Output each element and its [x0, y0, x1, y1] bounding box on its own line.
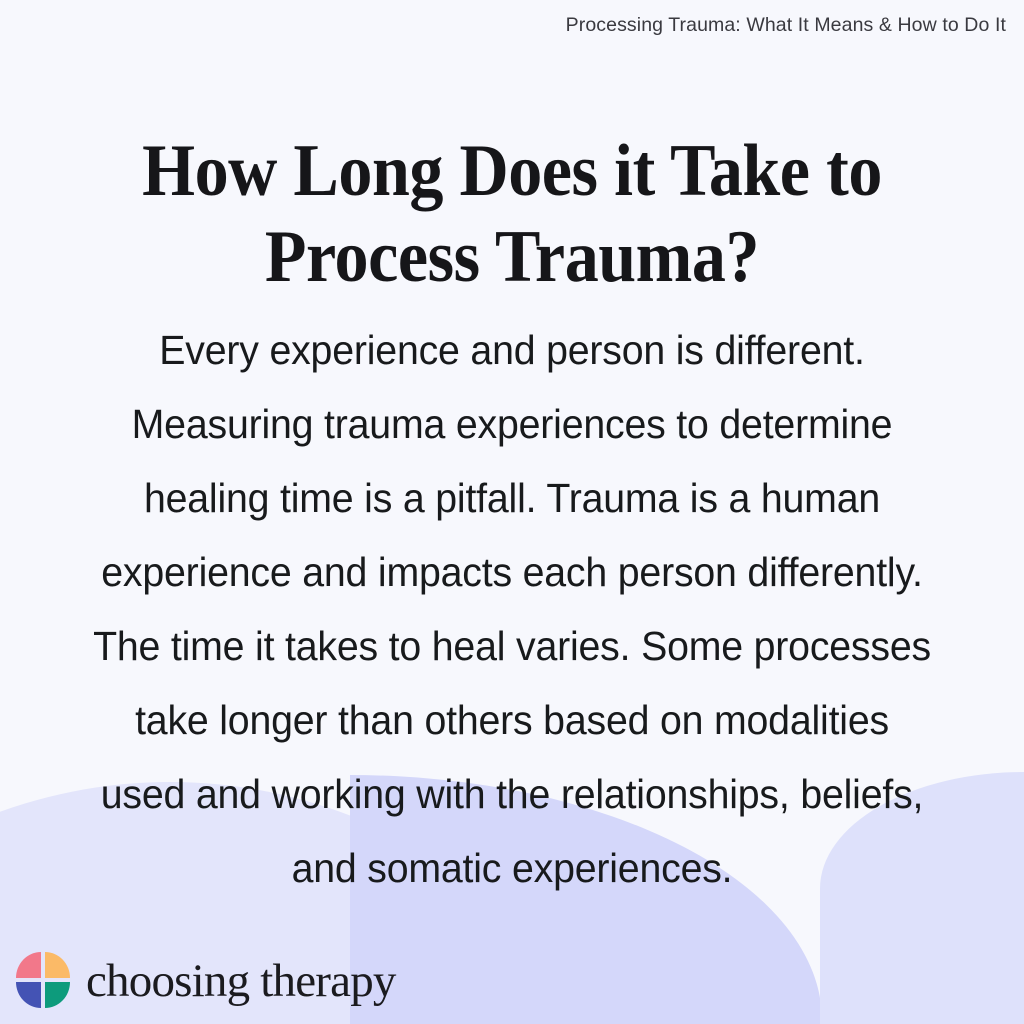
body-paragraph: Every experience and person is different…: [91, 313, 933, 905]
logo-quadrant-top-left: [16, 952, 41, 978]
choosing-therapy-logo-icon: [16, 952, 72, 1010]
card-content: Processing Trauma: What It Means & How t…: [0, 0, 1024, 1024]
brand-wordmark: choosing therapy: [86, 958, 396, 1005]
brand-lockup: choosing therapy: [16, 952, 396, 1010]
logo-quadrant-bottom-right: [45, 982, 70, 1008]
infographic-card: Processing Trauma: What It Means & How t…: [0, 0, 1024, 1024]
logo-quadrant-top-right: [45, 952, 70, 978]
logo-quadrant-bottom-left: [16, 982, 41, 1008]
page-title: How Long Does it Take to Process Trauma?: [107, 128, 917, 300]
article-kicker: Processing Trauma: What It Means & How t…: [566, 14, 1006, 37]
